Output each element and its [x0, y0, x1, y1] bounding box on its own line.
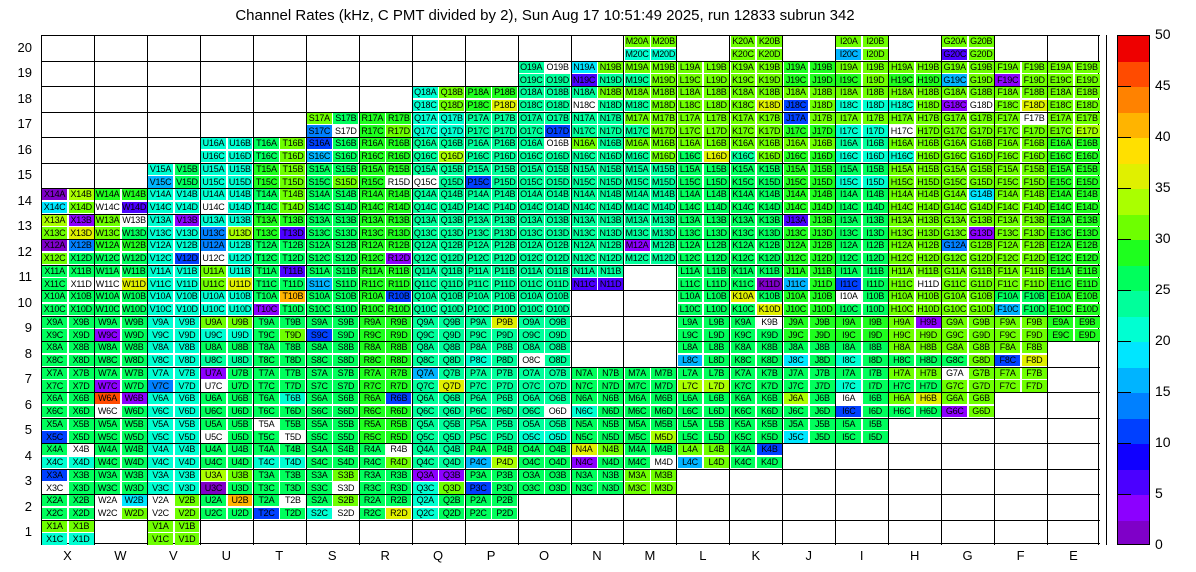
heatmap-cell: J19A — [784, 62, 809, 73]
heatmap-cell: Q6A — [413, 393, 438, 404]
heatmap-cell: T15A — [254, 164, 279, 175]
heatmap-cell: R6B — [386, 393, 411, 404]
heatmap-cell: V14A — [148, 189, 173, 200]
heatmap-cell: R12D — [386, 253, 411, 264]
heatmap-cell: W3D — [122, 482, 147, 493]
heatmap-cell: I16C — [836, 151, 861, 162]
heatmap-cell: Q3C — [413, 482, 438, 493]
heatmap-cell: S16D — [333, 151, 358, 162]
heatmap-cell: S5A — [307, 419, 332, 430]
heatmap-cell: K18A — [731, 87, 756, 98]
heatmap-cell: G13B — [969, 215, 994, 226]
heatmap-cell: U4D — [228, 457, 253, 468]
heatmap-cell: Q7D — [439, 380, 464, 391]
heatmap-cell: Q17B — [439, 113, 464, 124]
heatmap-cell: Q15B — [439, 164, 464, 175]
heatmap-cell: M14A — [625, 189, 650, 200]
heatmap-cell: W10A — [95, 291, 120, 302]
heatmap-cell: I20D — [863, 49, 888, 60]
heatmap-cell: L12D — [704, 253, 729, 264]
heatmap-cell: S7C — [307, 380, 332, 391]
heatmap-cell: R3A — [360, 470, 385, 481]
heatmap-cell: O8B — [545, 342, 570, 353]
heatmap-cell: N12C — [572, 253, 597, 264]
heatmap-cell: K18B — [757, 87, 782, 98]
heatmap-cell: W8B — [122, 342, 147, 353]
heatmap-cell: P11A — [466, 266, 491, 277]
y-axis-tick-label: 2 — [2, 499, 32, 514]
heatmap-cell: W10D — [122, 304, 147, 315]
heatmap-cell: S3C — [307, 482, 332, 493]
heatmap-cell: E14C — [1048, 202, 1073, 213]
heatmap-cell: S11D — [333, 278, 358, 289]
heatmap-cell: X11A — [42, 266, 67, 277]
heatmap-cell: H19D — [916, 74, 941, 85]
heatmap-cell: V14C — [148, 202, 173, 213]
heatmap-cell: U4C — [201, 457, 226, 468]
heatmap-cell: L10D — [704, 304, 729, 315]
heatmap-cell: T8B — [280, 342, 305, 353]
heatmap-cell: V10A — [148, 291, 173, 302]
heatmap-cell: M15B — [651, 164, 676, 175]
heatmap-cell: O10A — [519, 291, 544, 302]
heatmap-cell: T14B — [280, 189, 305, 200]
grid-row-line — [41, 112, 1100, 113]
heatmap-cell: E18B — [1075, 87, 1100, 98]
heatmap-cell: W4C — [95, 457, 120, 468]
heatmap-cell: W6D — [122, 406, 147, 417]
heatmap-cell: F15A — [995, 164, 1020, 175]
heatmap-cell: O4A — [519, 444, 544, 455]
heatmap-cell: J11D — [810, 278, 835, 289]
heatmap-cell: P16A — [466, 138, 491, 149]
heatmap-cell: O3B — [545, 470, 570, 481]
heatmap-cell: F19D — [1022, 74, 1047, 85]
heatmap-cell: W7A — [95, 368, 120, 379]
heatmap-cell: M16C — [625, 151, 650, 162]
heatmap-cell: V5A — [148, 419, 173, 430]
heatmap-cell: G6D — [969, 406, 994, 417]
heatmap-cell: O19C — [519, 74, 544, 85]
heatmap-cell: R9C — [360, 329, 385, 340]
heatmap-cell: V7C — [148, 380, 173, 391]
heatmap-cell: O4B — [545, 444, 570, 455]
heatmap-cell: X2D — [69, 508, 94, 519]
heatmap-cell: U3C — [201, 482, 226, 493]
heatmap-cell: P18D — [492, 100, 517, 111]
heatmap-cell: O14C — [519, 202, 544, 213]
heatmap-cell: F17C — [995, 125, 1020, 136]
heatmap-cell: O17A — [519, 113, 544, 124]
heatmap-cell: Q3B — [439, 470, 464, 481]
heatmap-cell: X10D — [69, 304, 94, 315]
heatmap-cell: H11C — [889, 278, 914, 289]
heatmap-cell: Q10D — [439, 304, 464, 315]
y-axis-tick-label: 1 — [2, 524, 32, 539]
heatmap-cell: I9B — [863, 317, 888, 328]
heatmap-cell: S9B — [333, 317, 358, 328]
heatmap-cell: J7C — [784, 380, 809, 391]
heatmap-cell: U5C — [201, 431, 226, 442]
heatmap-cell: G20C — [942, 49, 967, 60]
heatmap-cell: G9A — [942, 317, 967, 328]
heatmap-cell: W4D — [122, 457, 147, 468]
heatmap-cell: S14C — [307, 202, 332, 213]
heatmap-cell: S13C — [307, 227, 332, 238]
heatmap-cell: Q16C — [413, 151, 438, 162]
y-axis-tick-label: 17 — [2, 116, 32, 131]
heatmap-cell: P18C — [466, 100, 491, 111]
heatmap-cell: U13D — [228, 227, 253, 238]
heatmap-cell: E17C — [1048, 125, 1073, 136]
heatmap-cell: G6B — [969, 393, 994, 404]
heatmap-cell: V14B — [175, 189, 200, 200]
heatmap-cell: T4C — [254, 457, 279, 468]
heatmap-cell: F18A — [995, 87, 1020, 98]
heatmap-cell: W4B — [122, 444, 147, 455]
colorbar-band — [1118, 368, 1149, 394]
heatmap-cell: N3A — [572, 470, 597, 481]
heatmap-cell: G18D — [969, 100, 994, 111]
heatmap-cell: R5A — [360, 419, 385, 430]
heatmap-cell: Q14A — [413, 189, 438, 200]
heatmap-cell: T3C — [254, 482, 279, 493]
heatmap-cell: U16C — [201, 151, 226, 162]
heatmap-cell: I15A — [836, 164, 861, 175]
heatmap-cell: X1D — [69, 533, 94, 544]
heatmap-cell: G7C — [942, 380, 967, 391]
heatmap-cell: M18C — [625, 100, 650, 111]
heatmap-cell: W6B — [122, 393, 147, 404]
y-axis-tick-label: 7 — [2, 371, 32, 386]
heatmap-cell: E19D — [1075, 74, 1100, 85]
heatmap-cell: O16B — [545, 138, 570, 149]
heatmap-cell: K14A — [731, 189, 756, 200]
heatmap-cell: F10B — [1022, 291, 1047, 302]
heatmap-cell: U10A — [201, 291, 226, 302]
heatmap-cell: F14D — [1022, 202, 1047, 213]
heatmap-cell: X14D — [69, 202, 94, 213]
heatmap-cell: K10B — [757, 291, 782, 302]
heatmap-cell: N15A — [572, 164, 597, 175]
heatmap-cell: S7A — [307, 368, 332, 379]
heatmap-cell: G16B — [969, 138, 994, 149]
heatmap-cell: I19A — [836, 62, 861, 73]
colorbar-band — [1118, 521, 1149, 546]
heatmap-cell: U11B — [228, 266, 253, 277]
y-axis-tick-label: 18 — [2, 91, 32, 106]
heatmap-cell: R15C — [360, 176, 385, 187]
heatmap-cell: L7A — [678, 368, 703, 379]
heatmap-cell: P15A — [466, 164, 491, 175]
heatmap-cell: K8A — [731, 342, 756, 353]
heatmap-cell: J14D — [810, 202, 835, 213]
heatmap-cell: X9D — [69, 329, 94, 340]
heatmap-cell: O12B — [545, 240, 570, 251]
colorbar-band — [1118, 138, 1149, 164]
heatmap-cell: G10C — [942, 304, 967, 315]
heatmap-cell: U3D — [228, 482, 253, 493]
heatmap-cell: L9C — [678, 329, 703, 340]
colorbar-tick-label: 25 — [1155, 281, 1171, 297]
heatmap-cell: G11A — [942, 266, 967, 277]
heatmap-cell: V9D — [175, 329, 200, 340]
heatmap-cell: J17C — [784, 125, 809, 136]
heatmap-cell: I6B — [863, 393, 888, 404]
heatmap-cell: X4C — [42, 457, 67, 468]
heatmap-cell: M13D — [651, 227, 676, 238]
heatmap-cell: P10B — [492, 291, 517, 302]
heatmap-cell: S12B — [333, 240, 358, 251]
heatmap-cell: V2A — [148, 495, 173, 506]
heatmap-cell: L8D — [704, 355, 729, 366]
heatmap-cell: M6D — [651, 406, 676, 417]
heatmap-cell: M12B — [651, 240, 676, 251]
heatmap-cell: L14D — [704, 202, 729, 213]
heatmap-cell: I7B — [863, 368, 888, 379]
heatmap-cell: H19B — [916, 62, 941, 73]
x-axis-tick-label: M — [623, 548, 676, 563]
heatmap-cell: H13A — [889, 215, 914, 226]
heatmap-cell: V5D — [175, 431, 200, 442]
heatmap-cell: O6D — [545, 406, 570, 417]
heatmap-cell: Q12C — [413, 253, 438, 264]
heatmap-cell: V7A — [148, 368, 173, 379]
heatmap-cell: U12B — [228, 240, 253, 251]
heatmap-cell: V4D — [175, 457, 200, 468]
heatmap-cell: T10A — [254, 291, 279, 302]
heatmap-cell: P8C — [466, 355, 491, 366]
heatmap-cell: X13A — [42, 215, 67, 226]
heatmap-cell: U14A — [201, 189, 226, 200]
heatmap-cell: U5B — [228, 419, 253, 430]
heatmap-cell: M15D — [651, 176, 676, 187]
heatmap-cell: K9D — [757, 329, 782, 340]
heatmap-cell: K15A — [731, 164, 756, 175]
heatmap-cell: M7D — [651, 380, 676, 391]
heatmap-cell: T12C — [254, 253, 279, 264]
heatmap-cell: T14C — [254, 202, 279, 213]
heatmap-cell: J12A — [784, 240, 809, 251]
heatmap-cell: Q17C — [413, 125, 438, 136]
heatmap-cell: I18A — [836, 87, 861, 98]
heatmap-cell: Q5D — [439, 431, 464, 442]
heatmap-cell: O5A — [519, 419, 544, 430]
heatmap-cell: J11B — [810, 266, 835, 277]
heatmap-cell: H18D — [916, 100, 941, 111]
heatmap-cell: Q15D — [439, 176, 464, 187]
heatmap-cell: J8C — [784, 355, 809, 366]
heatmap-cell: H9A — [889, 317, 914, 328]
heatmap-cell: T16D — [280, 151, 305, 162]
heatmap-cell: O18D — [545, 100, 570, 111]
colorbar-tick-mark — [1117, 392, 1131, 393]
heatmap-cell: S13D — [333, 227, 358, 238]
heatmap-cell: R7D — [386, 380, 411, 391]
heatmap-cell: X13B — [69, 215, 94, 226]
heatmap-cell: P16C — [466, 151, 491, 162]
grid-row-line — [41, 316, 1100, 317]
heatmap-cell: I15C — [836, 176, 861, 187]
heatmap-cell: I14C — [836, 202, 861, 213]
heatmap-cell: N17A — [572, 113, 597, 124]
heatmap-cell: K6A — [731, 393, 756, 404]
heatmap-cell: N7B — [598, 368, 623, 379]
heatmap-cell: J10C — [784, 304, 809, 315]
heatmap-cell: F9C — [995, 329, 1020, 340]
heatmap-cell: S4C — [307, 457, 332, 468]
heatmap-cell: T4A — [254, 444, 279, 455]
heatmap-cell: L7B — [704, 368, 729, 379]
heatmap-cell: M15A — [625, 164, 650, 175]
colorbar-tick-mark — [1117, 188, 1131, 189]
heatmap-cell: L17B — [704, 113, 729, 124]
heatmap-cell: Q9D — [439, 329, 464, 340]
heatmap-cell: O3A — [519, 470, 544, 481]
heatmap-cell: W7C — [95, 380, 120, 391]
heatmap-cell: N6D — [598, 406, 623, 417]
heatmap-cell: O16A — [519, 138, 544, 149]
heatmap-cell: R11D — [386, 278, 411, 289]
heatmap-cell: L6A — [678, 393, 703, 404]
heatmap-cell: G8C — [942, 355, 967, 366]
heatmap-cell: G18C — [942, 100, 967, 111]
heatmap-cell: Q7C — [413, 380, 438, 391]
heatmap-cell: X4A — [42, 444, 67, 455]
heatmap-cell: L19A — [678, 62, 703, 73]
heatmap-cell: N12A — [572, 240, 597, 251]
heatmap-cell: N14D — [598, 202, 623, 213]
heatmap-cell: O12C — [519, 253, 544, 264]
heatmap-cell: R6D — [386, 406, 411, 417]
heatmap-cell: T4D — [280, 457, 305, 468]
heatmap-cell: T9C — [254, 329, 279, 340]
heatmap-cell: T9D — [280, 329, 305, 340]
heatmap-cell: M4D — [651, 457, 676, 468]
heatmap-cell: R12B — [386, 240, 411, 251]
heatmap-cell: I5C — [836, 431, 861, 442]
heatmap-cell: N7D — [598, 380, 623, 391]
heatmap-cell: M17C — [625, 125, 650, 136]
heatmap-cell: G17A — [942, 113, 967, 124]
heatmap-cell: O13C — [519, 227, 544, 238]
heatmap-cell: F12D — [1022, 253, 1047, 264]
heatmap-cell: Q18C — [413, 100, 438, 111]
heatmap-cell: I12B — [863, 240, 888, 251]
heatmap-cell: R17B — [386, 113, 411, 124]
heatmap-cell: E9A — [1048, 317, 1073, 328]
heatmap-cell: F11C — [995, 278, 1020, 289]
colorbar-tick-mark — [1117, 239, 1131, 240]
heatmap-cell: P7D — [492, 380, 517, 391]
heatmap-cell: M13C — [625, 227, 650, 238]
heatmap-cell: S6C — [307, 406, 332, 417]
heatmap-cell: V3A — [148, 470, 173, 481]
heatmap-cell: U2B — [228, 495, 253, 506]
heatmap-cell: K13D — [757, 227, 782, 238]
heatmap-cell: X3B — [69, 470, 94, 481]
heatmap-cell: O17D — [545, 125, 570, 136]
heatmap-cell: P12C — [466, 253, 491, 264]
heatmap-cell: X3A — [42, 470, 67, 481]
heatmap-cell: J8A — [784, 342, 809, 353]
heatmap-cell: K8C — [731, 355, 756, 366]
heatmap-cell: S4A — [307, 444, 332, 455]
heatmap-cell: T6A — [254, 393, 279, 404]
heatmap-cell: N4C — [572, 457, 597, 468]
grid-row-line — [41, 163, 1100, 164]
heatmap-cell: G20D — [969, 49, 994, 60]
heatmap-cell: L6B — [704, 393, 729, 404]
heatmap-cell: O8A — [519, 342, 544, 353]
heatmap-cell: Q10A — [413, 291, 438, 302]
heatmap-cell: F10C — [995, 304, 1020, 315]
heatmap-cell: R7C — [360, 380, 385, 391]
heatmap-cell: F16A — [995, 138, 1020, 149]
heatmap-cell: O19A — [519, 62, 544, 73]
heatmap-cell: O15D — [545, 176, 570, 187]
heatmap-cell: L8C — [678, 355, 703, 366]
heatmap-cell: H15B — [916, 164, 941, 175]
heatmap-cell: J8D — [810, 355, 835, 366]
heatmap-cell: P12D — [492, 253, 517, 264]
heatmap-cell: L14B — [704, 189, 729, 200]
heatmap-cell: U11D — [228, 278, 253, 289]
heatmap-cell: P4D — [492, 457, 517, 468]
heatmap-cell: X3C — [42, 482, 67, 493]
heatmap-cell: O12A — [519, 240, 544, 251]
heatmap-cell: W13D — [122, 227, 147, 238]
heatmap-cell: I5D — [863, 431, 888, 442]
heatmap-cell: G19B — [969, 62, 994, 73]
heatmap-cell: V12A — [148, 240, 173, 251]
heatmap-cell: F15D — [1022, 176, 1047, 187]
heatmap-cell: K8D — [757, 355, 782, 366]
heatmap-cell: P8D — [492, 355, 517, 366]
heatmap-cell: J13B — [810, 215, 835, 226]
heatmap-cell: L18B — [704, 87, 729, 98]
heatmap-cell: G15C — [942, 176, 967, 187]
heatmap-cell: E19C — [1048, 74, 1073, 85]
heatmap-cell: N4D — [598, 457, 623, 468]
heatmap-cell: R10A — [360, 291, 385, 302]
heatmap-cell: H14B — [916, 189, 941, 200]
heatmap-cell: S11B — [333, 266, 358, 277]
heatmap-cell: H12A — [889, 240, 914, 251]
heatmap-cell: S6D — [333, 406, 358, 417]
heatmap-cell: T8A — [254, 342, 279, 353]
heatmap-cell: E10B — [1075, 291, 1100, 302]
heatmap-cell: L13A — [678, 215, 703, 226]
heatmap-cell: Q12A — [413, 240, 438, 251]
heatmap-cell: G16A — [942, 138, 967, 149]
heatmap-cell: P18B — [492, 87, 517, 98]
heatmap-cell: L6C — [678, 406, 703, 417]
heatmap-cell: T8C — [254, 355, 279, 366]
heatmap-cell: P5C — [466, 431, 491, 442]
heatmap-cell: O11C — [519, 278, 544, 289]
colorbar-band — [1118, 470, 1149, 496]
heatmap-cell: O5D — [545, 431, 570, 442]
heatmap-cell: F8C — [995, 355, 1020, 366]
heatmap-cell: I15D — [863, 176, 888, 187]
heatmap-cell: N14C — [572, 202, 597, 213]
heatmap-cell: X3D — [69, 482, 94, 493]
heatmap-cell: S15D — [333, 176, 358, 187]
y-axis-tick-label: 8 — [2, 346, 32, 361]
heatmap-cell: K4A — [731, 444, 756, 455]
heatmap-cell: V6B — [175, 393, 200, 404]
